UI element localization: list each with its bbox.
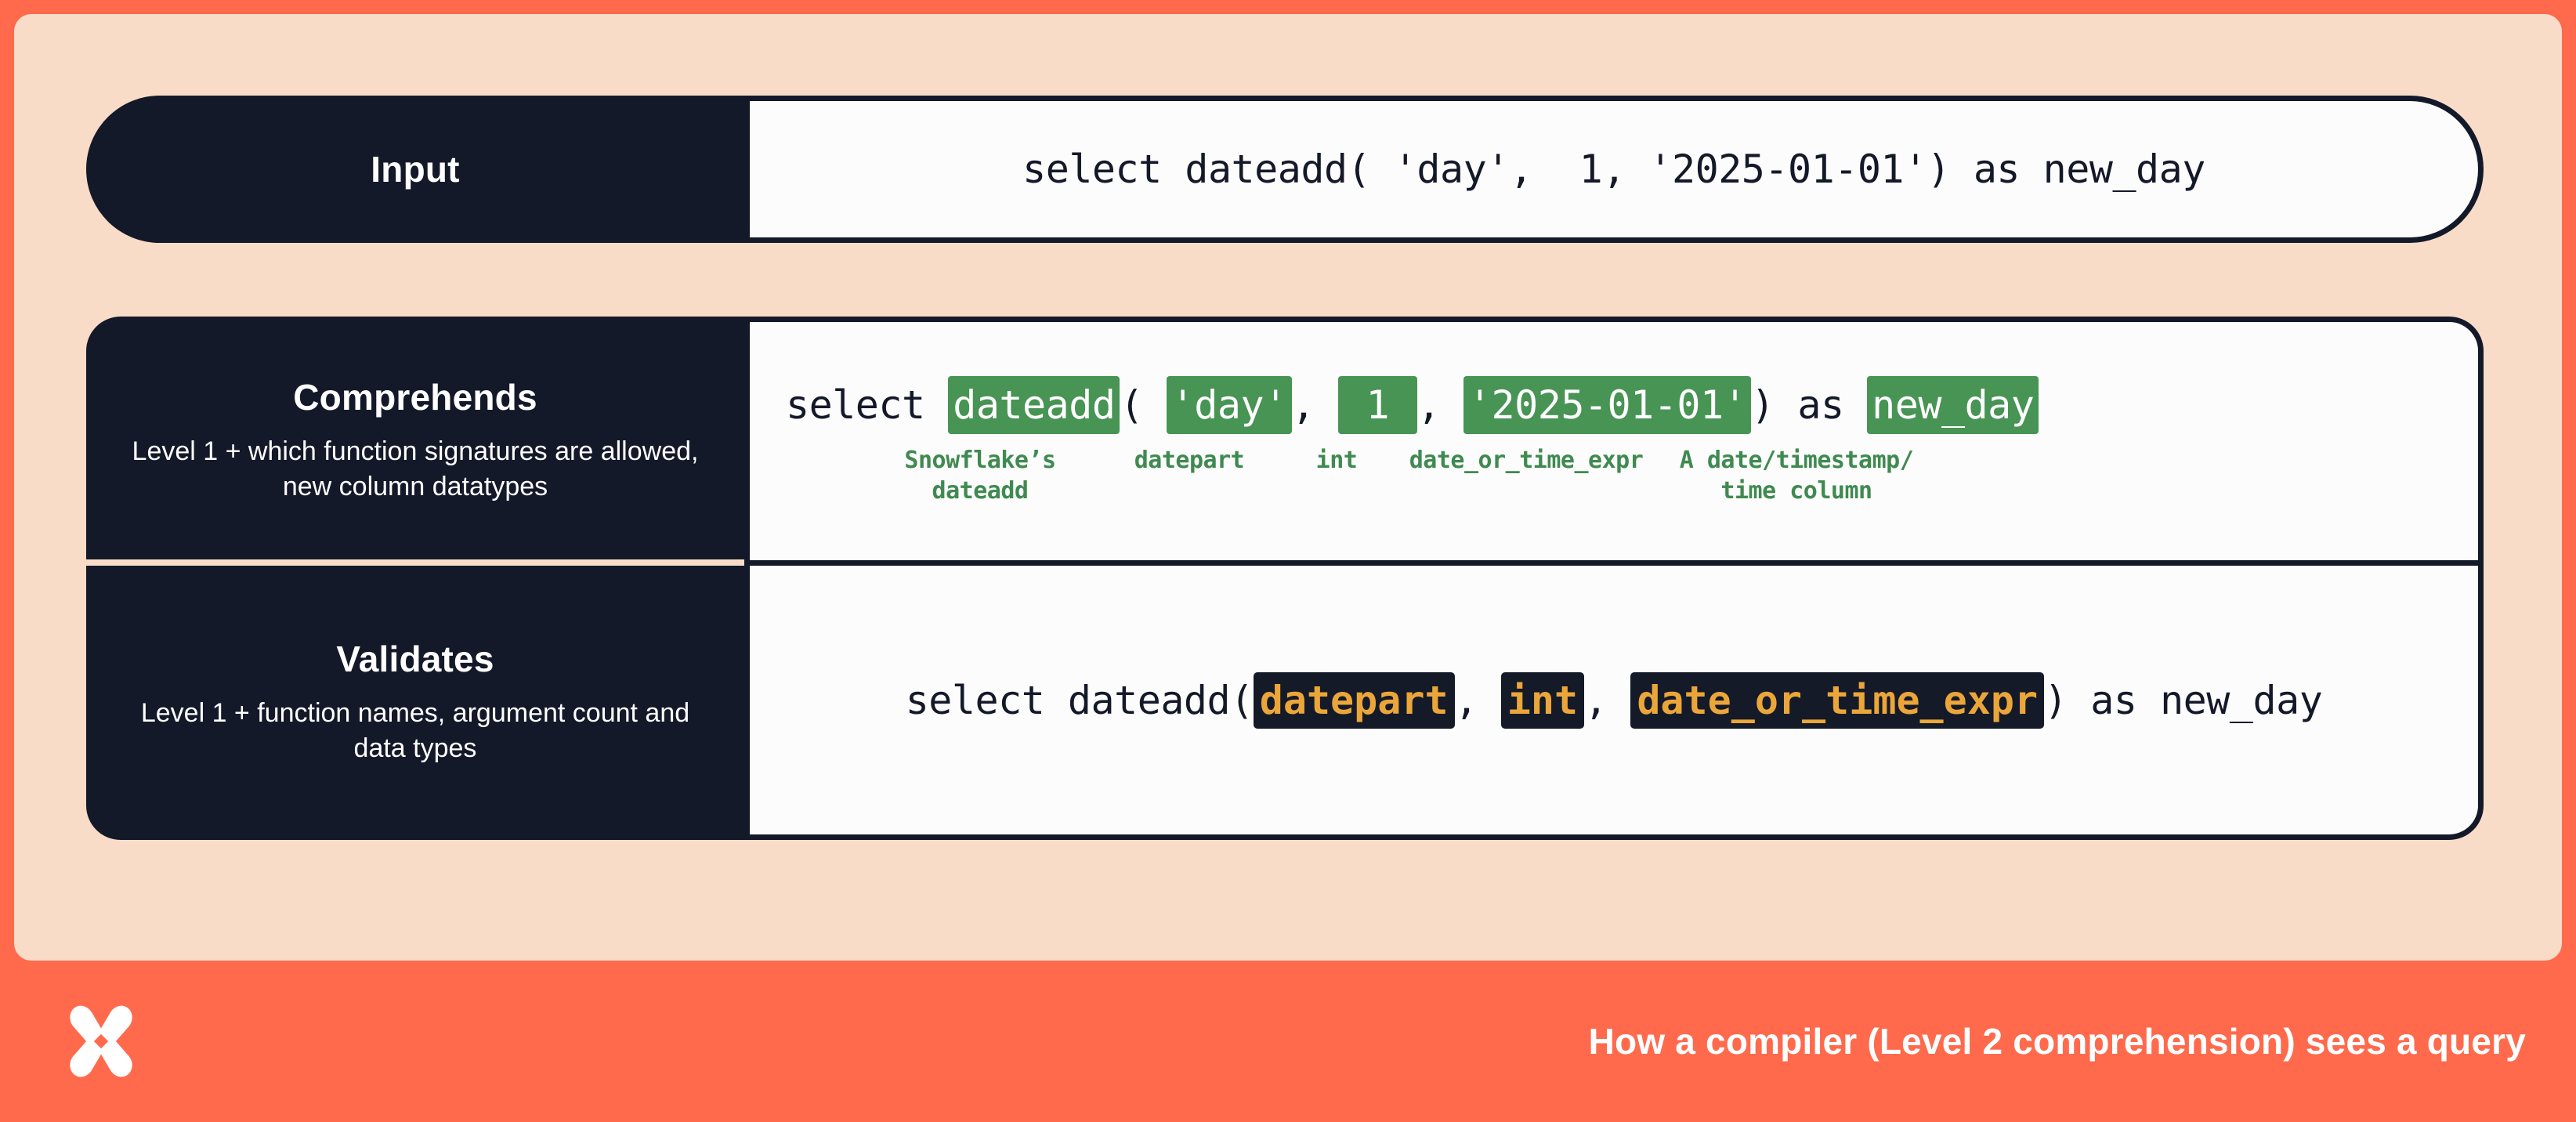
comprehends-row-title: Comprehends	[293, 378, 537, 418]
validates-chip-3: int	[1501, 672, 1584, 729]
validates-label-panel: Validates Level 1 + function names, argu…	[86, 566, 744, 840]
comprehends-highlight-3: 'day'	[1167, 376, 1292, 434]
validates-code-line: select dateadd(datepart, int, date_or_ti…	[906, 672, 2323, 729]
input-row: Input select dateadd( 'day', 1, '2025-01…	[86, 96, 2484, 243]
comprehends-text-4: ,	[1292, 382, 1338, 428]
input-row-title: Input	[371, 150, 459, 190]
validates-chip-5: date_or_time_expr	[1630, 672, 2044, 729]
validates-row-title: Validates	[336, 639, 494, 679]
label-panel-divider	[86, 559, 744, 566]
comprehends-text-6: ,	[1417, 382, 1463, 428]
comprehends-row-subtitle: Level 1 + which function signatures are …	[118, 434, 713, 505]
validates-chip-1: datepart	[1254, 672, 1455, 729]
validates-text-2: ,	[1455, 678, 1501, 723]
comprehends-code-panel: select dateadd( 'day', 1 , '2025-01-01')…	[744, 317, 2484, 566]
input-code-panel: select dateadd( 'day', 1, '2025-01-01') …	[744, 96, 2484, 243]
x-mark-logo	[55, 995, 147, 1088]
comprehends-text-2: (	[1120, 382, 1166, 428]
comprehends-validates-card: Comprehends Level 1 + which function sig…	[86, 317, 2484, 840]
comprehends-label-panel: Comprehends Level 1 + which function sig…	[86, 317, 744, 566]
validates-row-subtitle: Level 1 + function names, argument count…	[118, 696, 713, 766]
comprehends-text-0: select	[786, 382, 948, 428]
infographic-frame: Input select dateadd( 'day', 1, '2025-01…	[0, 0, 2576, 1122]
comprehends-annotation-3: date_or_time_expr	[1397, 445, 1655, 476]
comprehends-annotation-1: datepart	[1099, 445, 1279, 476]
comprehends-highlight-9: new_day	[1867, 376, 2039, 434]
validates-text-0: select dateadd(	[906, 678, 1254, 723]
comprehends-row: Comprehends Level 1 + which function sig…	[86, 317, 2484, 566]
validates-text-4: ,	[1584, 678, 1630, 723]
comprehends-annotation-4: A date/timestamp/ time column	[1679, 445, 1914, 506]
input-label-panel: Input	[86, 96, 744, 243]
input-code-line: select dateadd( 'day', 1, '2025-01-01') …	[1022, 147, 2205, 192]
comprehends-text-8: ) as	[1751, 382, 1867, 428]
validates-code-panel: select dateadd(datepart, int, date_or_ti…	[744, 566, 2484, 840]
comprehends-highlight-1: dateadd	[948, 376, 1120, 434]
footer-caption: How a compiler (Level 2 comprehension) s…	[1589, 1020, 2526, 1062]
validates-text-6: ) as new_day	[2044, 678, 2322, 723]
comprehends-annotation-row: Snowflake’s dateadddatepartintdate_or_ti…	[786, 445, 2442, 506]
validates-row: Validates Level 1 + function names, argu…	[86, 566, 2484, 840]
comprehends-annotation-0: Snowflake’s dateadd	[878, 445, 1082, 506]
footer-bar: How a compiler (Level 2 comprehension) s…	[0, 961, 2576, 1122]
comprehends-highlight-5: 1	[1338, 376, 1417, 434]
comprehends-highlight-7: '2025-01-01'	[1463, 376, 1751, 434]
comprehends-annotation-2: int	[1293, 445, 1380, 476]
comprehends-code-line: select dateadd( 'day', 1 , '2025-01-01')…	[786, 376, 2442, 434]
